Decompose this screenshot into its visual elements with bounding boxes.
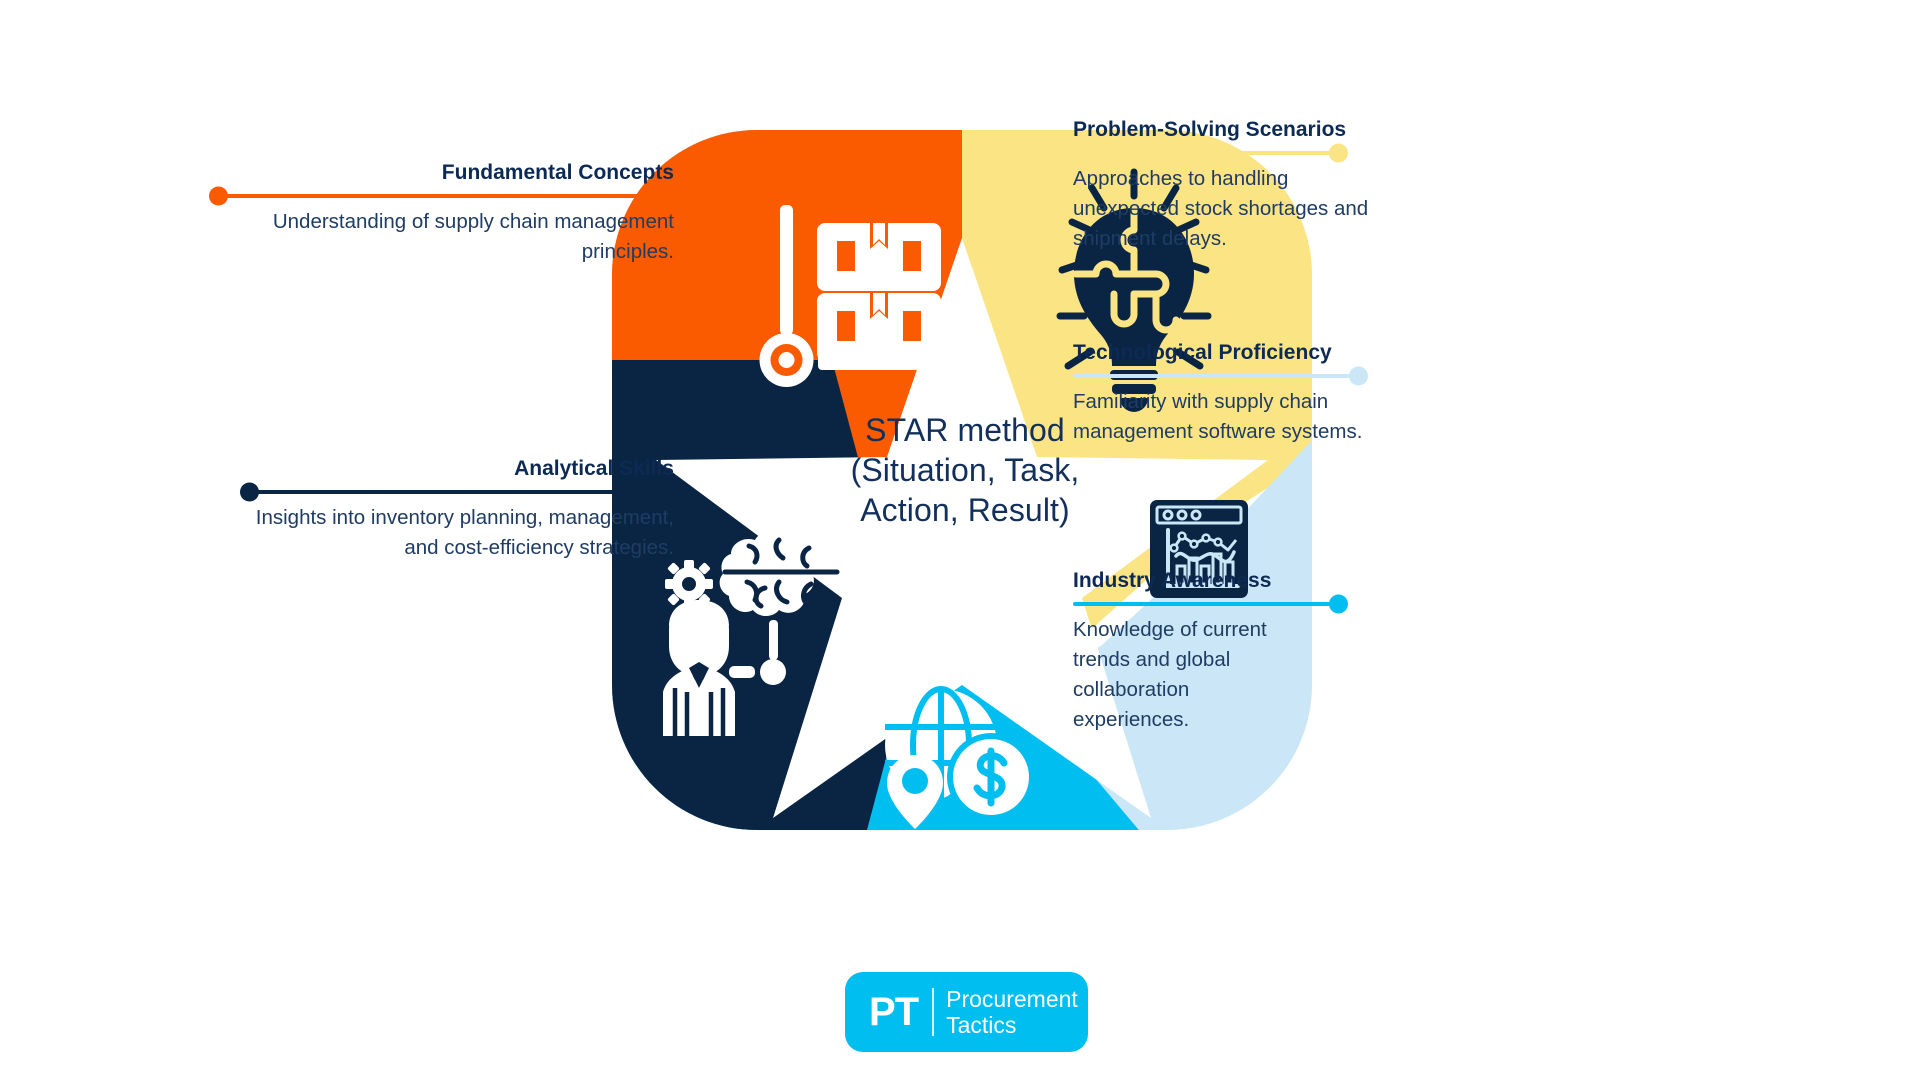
connector-line <box>243 490 674 494</box>
connector-line <box>212 194 674 198</box>
callout-fundamental-concepts: Fundamental Concepts Understanding of su… <box>212 160 674 267</box>
callout-description: Knowledge of current trends and global c… <box>1073 615 1303 735</box>
connector-dot <box>1329 595 1348 614</box>
connector-dot <box>209 187 228 206</box>
callout-description: Understanding of supply chain management… <box>212 207 674 267</box>
connector-dot <box>240 483 259 502</box>
logo-wordmark-line1: Procurement <box>946 986 1078 1012</box>
callout-description: Approaches to handling unexpected stock … <box>1073 164 1383 254</box>
procurement-tactics-logo: PT Procurement Tactics <box>845 972 1088 1052</box>
connector-dot <box>1329 144 1348 163</box>
callout-title: Problem-Solving Scenarios <box>1073 117 1345 143</box>
logo-divider <box>932 988 934 1036</box>
callout-description: Familiarity with supply chain management… <box>1073 387 1373 447</box>
connector-line <box>1073 602 1345 606</box>
callout-title: Technological Proficiency <box>1073 340 1365 366</box>
callout-title: Analytical Skills <box>243 456 674 482</box>
logo-wordmark-line2: Tactics <box>946 1012 1078 1038</box>
callout-title: Fundamental Concepts <box>212 160 674 186</box>
callout-technological-proficiency: Technological Proficiency Familiarity wi… <box>1073 340 1365 447</box>
pallet-jack-boxes-icon <box>760 205 942 387</box>
callout-industry-awareness: Industry Awareness Knowledge of current … <box>1073 568 1345 735</box>
callout-title: Industry Awareness <box>1073 568 1345 594</box>
callout-description: Insights into inventory planning, manage… <box>243 503 674 563</box>
infographic-canvas: STAR method (Situation, Task, Action, Re… <box>0 0 1920 1080</box>
callout-problem-solving-scenarios: Problem-Solving Scenarios Approaches to … <box>1073 117 1345 254</box>
connector-dot <box>1349 367 1368 386</box>
callout-analytical-skills: Analytical Skills Insights into inventor… <box>243 456 674 563</box>
logo-wordmark: Procurement Tactics <box>946 986 1078 1038</box>
connector-line <box>1073 151 1345 155</box>
connector-line <box>1073 374 1365 378</box>
logo-monogram: PT <box>869 990 918 1035</box>
